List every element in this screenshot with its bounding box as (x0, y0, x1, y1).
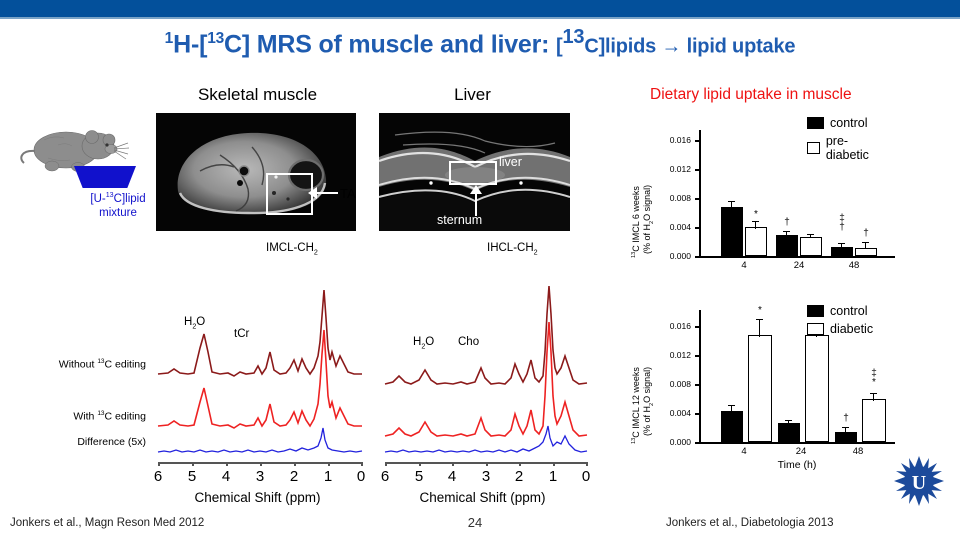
bar-control-48h-c1 (831, 247, 853, 256)
row1-b: C editing (105, 411, 146, 423)
title-part-2: C] MRS of muscle and liver: (224, 30, 556, 58)
chart1-yt2-a: (% of H (642, 224, 652, 254)
chart1-xaxis (699, 256, 895, 258)
errcap-pre-24h-c1 (807, 234, 814, 235)
chart1-ytick-0 (695, 256, 699, 258)
chart2-ytitle-line1: 13C IMCL 12 weeks (631, 367, 641, 444)
roi-box-ta (266, 173, 313, 215)
chart-imcl-6-weeks: 13C IMCL 6 weeks (% of H2O signal) 0.000… (625, 118, 945, 278)
chart1-ytitle-sup: 13 (631, 252, 637, 258)
mixture-sup: 13 (106, 191, 114, 199)
peak-label-ihcl: IHCL-CH2 (487, 242, 538, 256)
bar-diabetic-24h-c2 (805, 335, 829, 442)
page-title: 1H-[13C] MRS of muscle and liver: [13C]l… (0, 26, 960, 59)
chart2-ytick-4 (695, 326, 699, 328)
logo-letter: U (912, 472, 926, 494)
mri-image-muscle (156, 113, 356, 231)
header-skeletal-muscle: Skeletal muscle (160, 85, 355, 105)
legend2-label-diabetic: diabetic (830, 322, 873, 336)
liver-xtick-5: 5 (411, 468, 427, 485)
mri-label-ta: TA (340, 186, 356, 201)
spectrum-row-label-without: Without 13C editing (26, 358, 146, 371)
sig-pre-4h-c1: * (749, 210, 763, 219)
chart1-ytick-2 (695, 198, 699, 200)
chart1-xlabel-24: 24 (787, 260, 811, 271)
legend-label-control: control (830, 116, 868, 130)
chart1-legend-prediabetic: pre-diabetic (807, 134, 873, 162)
header-dietary-uptake: Dietary lipid uptake in muscle (650, 86, 940, 104)
chart2-yt2-b: O signal) (642, 367, 652, 403)
title-sup-3: 13 (562, 26, 584, 48)
chart1-yaxis (699, 130, 701, 256)
sig-control-48h-c1: ‡ † (835, 214, 849, 232)
chart2-ylabel-2: 0.008 (657, 379, 691, 389)
bar-diabetic-48h-c2 (862, 399, 886, 442)
mixture-line1-b: C]lipid (114, 193, 146, 205)
peak-label-imcl: IMCL-CH2 (266, 242, 318, 256)
chart2-ytick-0 (695, 442, 699, 444)
chart2-ytitle-line2: (% of H2O signal) (642, 367, 655, 436)
muscle-xtick-0: 0 (353, 468, 369, 485)
ta-arrow-line (314, 192, 338, 194)
liver-xtick-3: 3 (478, 468, 494, 485)
bar-prediabetic-24h-c1 (800, 237, 822, 256)
legend-swatch-prediabetic (807, 142, 820, 154)
err-diab-4h-c2 (759, 319, 760, 337)
muscle-xtick-4: 4 (218, 468, 234, 485)
chart2-xlabel-24: 24 (789, 446, 813, 457)
chart2-yt2-a: (% of H (642, 406, 652, 436)
errcap-pre-48h-c1 (862, 242, 869, 243)
citation-right: Jonkers et al., Diabetologia 2013 (666, 517, 834, 529)
chart1-ytitle-line2: (% of H2O signal) (642, 185, 655, 254)
muscle-xtick-5: 5 (184, 468, 200, 485)
errcap-control-4h-c1 (728, 201, 735, 202)
mixture-line2: mixture (99, 207, 137, 219)
lipid-mixture-label: [U-13C]lipid mixture (72, 188, 164, 220)
liver-xtick-0: 0 (578, 468, 594, 485)
liver-axis-title: Chemical Shift (ppm) (375, 490, 590, 505)
errcap-control-48h-c1 (838, 243, 845, 244)
errcap-control-4h-c2 (728, 405, 735, 406)
chart1-ylabel-4: 0.016 (657, 135, 691, 145)
chart2-yt2-sub: 2 (649, 403, 655, 406)
chart1-xlabel-4: 4 (732, 260, 756, 271)
slide-root: 1H-[13C] MRS of muscle and liver: [13C]l… (0, 0, 960, 540)
chart2-ytick-1 (695, 413, 699, 415)
mri-label-sternum: sternum (437, 213, 482, 227)
muscle-xtick-2: 2 (286, 468, 302, 485)
errcap-control-24h-c2 (785, 420, 792, 421)
chart2-xlabel-4: 4 (732, 446, 756, 457)
bar-prediabetic-48h-c1 (855, 248, 877, 256)
muscle-xtick-3: 3 (252, 468, 268, 485)
bar-control-4h-c2 (721, 411, 743, 442)
chart2-yaxis (699, 310, 701, 442)
legend2-swatch-control (807, 305, 824, 317)
muscle-xtick-1: 1 (320, 468, 336, 485)
spectrum-liver-traces (375, 256, 590, 456)
liver-xtick-4: 4 (444, 468, 460, 485)
chart1-ytick-1 (695, 227, 699, 229)
muscle-axis-title: Chemical Shift (ppm) (150, 490, 365, 505)
chart2-ytick-3 (695, 355, 699, 357)
chart2-xlabel-48: 48 (846, 446, 870, 457)
liver-xtick-2: 2 (511, 468, 527, 485)
muscle-xtick-6: 6 (150, 468, 166, 485)
chart2-ylabel-0: 0.000 (657, 437, 691, 447)
chart1-ytick-3 (695, 169, 699, 171)
ta-arrow-head (308, 187, 317, 199)
chart1-ylabel-0: 0.000 (657, 251, 691, 261)
chart2-xaxis (699, 442, 895, 444)
peak-label-imcl-text: IMCL-CH (266, 242, 314, 254)
spectrum-row-label-difference: Difference (5x) (26, 436, 146, 448)
spectrum-panel-muscle: IMCL-CH2 H2O tCr Without 13C editing Wit… (150, 238, 365, 500)
roi-box-liver (449, 161, 497, 185)
chart-imcl-12-weeks: 13C IMCL 12 weeks (% of H2O signal) 0.00… (625, 296, 945, 474)
bar-diabetic-4h-c2 (748, 335, 772, 442)
chart2-ylabel-3: 0.012 (657, 350, 691, 360)
title-sup-2: 13 (207, 30, 224, 47)
liver-xtick-6: 6 (377, 468, 393, 485)
title-part-3: C]lipids → lipid uptake (584, 35, 795, 57)
chart1-yt2-sub: 2 (649, 221, 655, 224)
chart2-legend-control: control (807, 304, 868, 318)
chart2-ytitle-txt: C IMCL 12 weeks (631, 367, 641, 438)
errcap-pre-4h-c1 (752, 221, 759, 222)
sternum-arrow-head (470, 185, 482, 194)
spectrum-row-label-with: With 13C editing (26, 410, 146, 423)
chart2-ylabel-1: 0.004 (657, 408, 691, 418)
feeding-dish-icon (74, 166, 136, 188)
citation-left: Jonkers et al., Magn Reson Med 2012 (10, 517, 204, 529)
mouse-illustration-group: [U-13C]lipid mixture (14, 118, 154, 216)
row1-sup: 13 (97, 410, 104, 417)
mri-image-liver: liver sternum (379, 113, 570, 231)
starburst-logo-icon: U (893, 455, 945, 507)
legend2-label-control: control (830, 304, 868, 318)
chart1-ylabel-2: 0.008 (657, 193, 691, 203)
sig-diab-4h-c2: * (753, 306, 767, 315)
bar-control-4h-c1 (721, 207, 743, 256)
bar-control-24h-c2 (778, 423, 800, 442)
chart2-ylabel-4: 0.016 (657, 321, 691, 331)
legend-swatch-control (807, 117, 824, 129)
spectrum-panel-liver: IHCL-CH2 H2O Cho 6 5 4 3 2 1 0 Chemical … (375, 238, 590, 500)
errcap-control-48h-c2 (842, 427, 849, 428)
row0-sup: 13 (97, 358, 104, 365)
chart1-yt2-b: O signal) (642, 185, 652, 221)
mri-muscle-graphic (156, 113, 356, 231)
errcap-diab-4h-c2 (756, 319, 763, 320)
sig-control-48h-c2: † (839, 414, 853, 423)
bar-control-24h-c1 (776, 235, 798, 256)
peak-label-ihcl-text: IHCL-CH (487, 242, 534, 254)
sig-control-24h-c1: † (780, 218, 794, 227)
errcap-diab-48h-c2 (870, 393, 877, 394)
header-liver: Liver (380, 85, 565, 105)
mri-label-liver: liver (499, 155, 522, 169)
chart2-ytick-2 (695, 384, 699, 386)
top-accent-bar (0, 0, 960, 17)
row0-a: Without (59, 359, 98, 371)
chart1-ytick-4 (695, 140, 699, 142)
liver-xtick-1: 1 (545, 468, 561, 485)
chart1-ytitle-txt: C IMCL 6 weeks (631, 186, 641, 252)
chart2-legend-diabetic: diabetic (807, 322, 873, 336)
row0-b: C editing (105, 359, 146, 371)
sig-diab-48h-c2: ‡ * (867, 369, 881, 387)
legend-label-prediabetic: pre-diabetic (826, 134, 873, 162)
chart1-ytitle-line1: 13C IMCL 6 weeks (631, 186, 641, 258)
sig-pre-48h-c1: † (859, 229, 873, 238)
chart1-ylabel-1: 0.004 (657, 222, 691, 232)
chart1-ylabel-3: 0.012 (657, 164, 691, 174)
bar-prediabetic-4h-c1 (745, 227, 767, 256)
legend2-swatch-diabetic (807, 323, 824, 335)
chart2-ytitle-sup: 13 (631, 438, 637, 444)
mixture-line1-a: [U- (90, 193, 105, 205)
top-accent-bar-shadow (0, 17, 960, 19)
chart1-xlabel-48: 48 (842, 260, 866, 271)
bar-control-48h-c2 (835, 432, 857, 442)
chart1-legend-control: control (807, 116, 868, 130)
row1-a: With (73, 411, 97, 423)
chart2-xtitle: Time (h) (699, 459, 895, 471)
university-logo: U (893, 455, 945, 507)
errcap-control-24h-c1 (783, 231, 790, 232)
slide-number: 24 (455, 515, 495, 530)
spectrum-muscle-traces (150, 256, 365, 456)
title-sup-1: 1 (165, 30, 173, 47)
title-part-1: H-[ (173, 30, 207, 58)
